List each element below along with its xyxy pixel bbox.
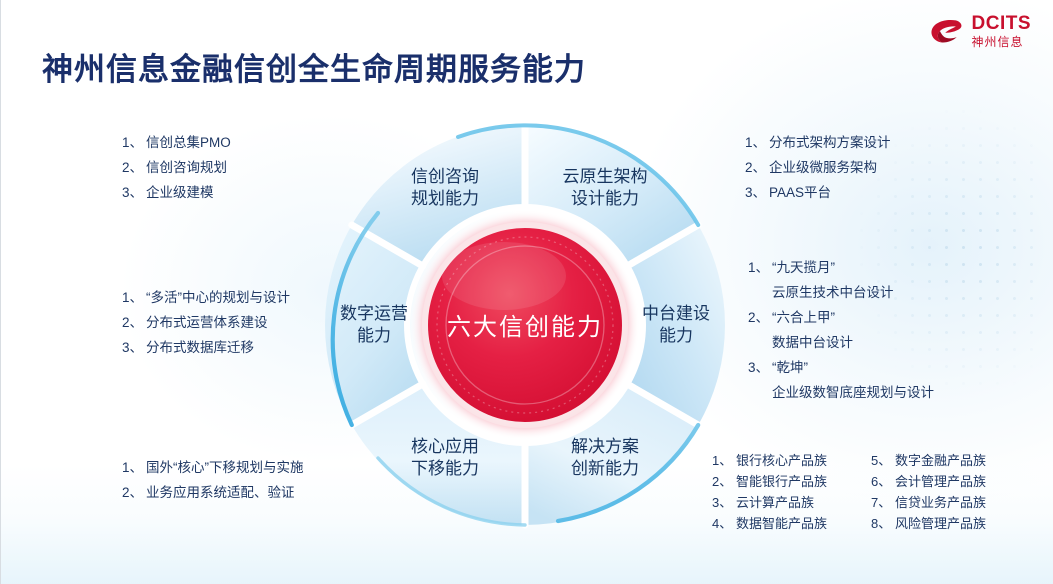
list-item: 8、风险管理产品族 [871, 513, 986, 534]
list-item-text: 企业级建模 [146, 180, 214, 205]
list-item-text: 信创咨询规划 [146, 155, 227, 180]
list-item-text: 银行核心产品族 [736, 450, 827, 471]
text-block-bottom-left: 1、国外“核心”下移规划与实施2、业务应用系统适配、验证 [122, 455, 304, 505]
text-block-mid-left: 1、“多活”中心的规划与设计2、分布式运营体系建设3、分布式数据库迁移 [122, 285, 290, 360]
list-item-number: 1、 [122, 285, 146, 310]
list-item-text: 信贷业务产品族 [895, 492, 986, 513]
list-item-number: 1、 [122, 130, 146, 155]
list-item-text: 业务应用系统适配、验证 [146, 480, 295, 505]
text-block-top-left: 1、信创总集PMO2、信创咨询规划3、企业级建模 [122, 130, 231, 205]
list-item-text: 数据中台设计 [748, 330, 853, 355]
logo-text-group: DCITS 神州信息 [972, 14, 1032, 48]
slide-left-border [0, 0, 1, 584]
list-item-text: “九天揽月” [772, 255, 835, 280]
core-highlight [442, 242, 566, 310]
list-item-number: 3、 [748, 355, 772, 380]
list-item-text: 风险管理产品族 [895, 513, 986, 534]
list-item-number: 3、 [745, 180, 769, 205]
list-item-number: 2、 [712, 471, 736, 492]
list-item-text: 会计管理产品族 [895, 471, 986, 492]
list-item-text: 信创总集PMO [146, 130, 231, 155]
bottom-right-column-2: 5、数字金融产品族6、会计管理产品族7、信贷业务产品族8、风险管理产品族 [871, 450, 986, 534]
list-item-text: “乾坤” [772, 355, 808, 380]
list-item-number: 2、 [745, 155, 769, 180]
brand-logo: DCITS 神州信息 [929, 14, 1032, 48]
text-block-mid-right: 1、“九天揽月”云原生技术中台设计2、“六合上甲”数据中台设计3、“乾坤”企业级… [748, 255, 934, 405]
list-item-text: PAAS平台 [769, 180, 831, 205]
list-item-number: 2、 [748, 305, 772, 330]
list-item: 数据中台设计 [748, 330, 934, 355]
list-item-number: 8、 [871, 513, 895, 534]
slide-canvas: DCITS 神州信息 神州信息金融信创全生命周期服务能力 [0, 0, 1053, 584]
list-item-number: 3、 [122, 180, 146, 205]
list-item: 1、“九天揽月” [748, 255, 934, 280]
list-item: 2、“六合上甲” [748, 305, 934, 330]
list-item: 3、云计算产品族 [712, 492, 827, 513]
capability-donut-diagram: 六大信创能力 信创咨询 规划能力 云原生架构 设计能力 中台建设 能力 解决方案… [318, 118, 732, 532]
list-item-text: 企业级微服务架构 [769, 155, 877, 180]
list-item: 1、“多活”中心的规划与设计 [122, 285, 290, 310]
text-block-bottom-right: 1、银行核心产品族2、智能银行产品族3、云计算产品族4、数据智能产品族 5、数字… [712, 450, 986, 534]
list-item: 3、PAAS平台 [745, 180, 891, 205]
list-item-text: 企业级数智底座规划与设计 [748, 380, 934, 405]
list-item-number: 1、 [712, 450, 736, 471]
donut-svg [318, 118, 732, 532]
list-item: 1、国外“核心”下移规划与实施 [122, 455, 304, 480]
list-item: 云原生技术中台设计 [748, 280, 934, 305]
list-item-text: 云原生技术中台设计 [748, 280, 894, 305]
list-item-number: 4、 [712, 513, 736, 534]
list-item: 3、分布式数据库迁移 [122, 335, 290, 360]
list-item-number: 2、 [122, 480, 146, 505]
dcits-swoosh-icon [929, 16, 965, 46]
list-item-text: 分布式架构方案设计 [769, 130, 891, 155]
list-item: 企业级数智底座规划与设计 [748, 380, 934, 405]
list-item: 1、信创总集PMO [122, 130, 231, 155]
list-item-text: 云计算产品族 [736, 492, 814, 513]
bottom-right-column-1: 1、银行核心产品族2、智能银行产品族3、云计算产品族4、数据智能产品族 [712, 450, 827, 534]
list-item-text: 数据智能产品族 [736, 513, 827, 534]
list-item-number: 5、 [871, 450, 895, 471]
list-item: 5、数字金融产品族 [871, 450, 986, 471]
logo-cn-text: 神州信息 [972, 36, 1032, 48]
list-item-text: 数字金融产品族 [895, 450, 986, 471]
list-item-text: “六合上甲” [772, 305, 835, 330]
list-item-number: 2、 [122, 155, 146, 180]
text-block-top-right: 1、分布式架构方案设计2、企业级微服务架构3、PAAS平台 [745, 130, 891, 205]
list-item: 2、业务应用系统适配、验证 [122, 480, 304, 505]
list-item-number: 3、 [712, 492, 736, 513]
list-item: 3、“乾坤” [748, 355, 934, 380]
logo-en-text: DCITS [972, 14, 1032, 33]
list-item-number: 2、 [122, 310, 146, 335]
list-item-number: 6、 [871, 471, 895, 492]
list-item-text: 国外“核心”下移规划与实施 [146, 455, 304, 480]
list-item-number: 7、 [871, 492, 895, 513]
list-item: 2、信创咨询规划 [122, 155, 231, 180]
list-item-number: 1、 [748, 255, 772, 280]
list-item: 4、数据智能产品族 [712, 513, 827, 534]
list-item-text: 分布式运营体系建设 [146, 310, 268, 335]
list-item: 3、企业级建模 [122, 180, 231, 205]
list-item: 2、分布式运营体系建设 [122, 310, 290, 335]
list-item-number: 1、 [122, 455, 146, 480]
list-item: 7、信贷业务产品族 [871, 492, 986, 513]
list-item: 6、会计管理产品族 [871, 471, 986, 492]
list-item-number: 3、 [122, 335, 146, 360]
list-item: 2、智能银行产品族 [712, 471, 827, 492]
list-item: 2、企业级微服务架构 [745, 155, 891, 180]
list-item-number: 1、 [745, 130, 769, 155]
list-item-text: 分布式数据库迁移 [146, 335, 254, 360]
list-item-text: “多活”中心的规划与设计 [146, 285, 290, 310]
page-title: 神州信息金融信创全生命周期服务能力 [42, 44, 586, 89]
list-item-text: 智能银行产品族 [736, 471, 827, 492]
list-item: 1、银行核心产品族 [712, 450, 827, 471]
list-item: 1、分布式架构方案设计 [745, 130, 891, 155]
